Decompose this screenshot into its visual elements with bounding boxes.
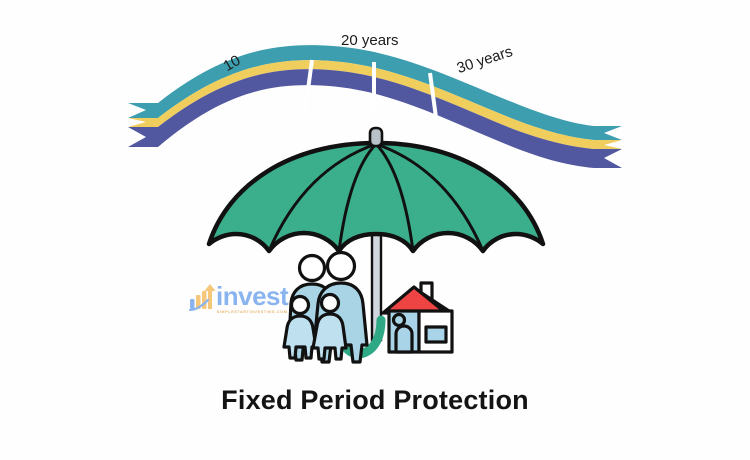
page-title: Fixed Period Protection	[0, 385, 750, 416]
infographic-canvas: 10 20 years 30 years	[0, 0, 750, 460]
logo-text: invest SIMPLESTARTINVESTING.COM	[216, 283, 288, 315]
family-adult-left	[289, 256, 334, 361]
house-chimney	[421, 283, 432, 305]
family-child-right	[313, 295, 346, 360]
house-roof-right	[414, 288, 449, 311]
logo-wordmark: invest	[216, 283, 288, 309]
ribbon-graphic	[0, 0, 750, 170]
house	[383, 283, 452, 352]
house-door	[396, 326, 412, 352]
chart-arrow-icon	[188, 282, 218, 316]
invest-logo[interactable]: invest SIMPLESTARTINVESTING.COM	[188, 276, 290, 322]
house-roof-full	[383, 287, 446, 313]
house-square-window	[426, 327, 446, 342]
house-wall-right	[419, 311, 452, 352]
ribbon-tail-right	[594, 126, 622, 168]
umbrella-shaft	[372, 150, 381, 340]
timeline-ribbon: 10 20 years 30 years	[0, 0, 750, 170]
umbrella-hook	[343, 320, 381, 354]
ribbon-tail-left	[128, 103, 158, 147]
house-roof	[389, 288, 440, 311]
house-wall-left	[389, 311, 419, 352]
ribbon-label-20-years: 20 years	[341, 32, 399, 49]
family-adult-right	[314, 253, 367, 363]
house-round-window	[394, 315, 405, 326]
logo-tagline: SIMPLESTARTINVESTING.COM	[217, 311, 288, 315]
family-group	[284, 253, 367, 363]
